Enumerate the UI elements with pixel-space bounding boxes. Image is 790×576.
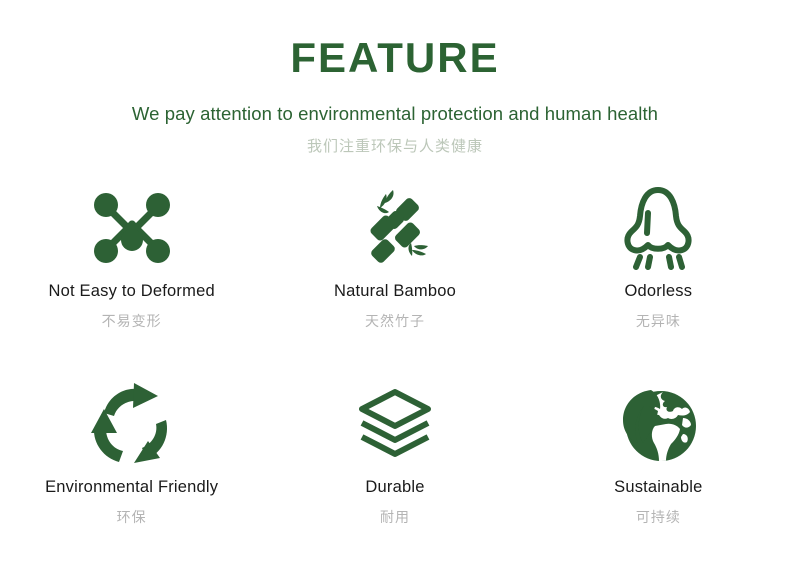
nose-icon [622,178,694,278]
feature-item-not-easy-to-deformed: Not Easy to Deformed 不易变形 [0,178,263,374]
feature-label-chinese: 天然竹子 [365,311,425,331]
subtitle-chinese: 我们注重环保与人类健康 [0,135,790,156]
layers-stack-icon [356,374,434,474]
feature-item-environmental-friendly: Environmental Friendly 环保 [0,374,263,570]
feature-item-odorless: Odorless 无异味 [527,178,790,374]
feature-label-chinese: 耐用 [380,507,410,527]
feature-label-chinese: 环保 [117,507,147,527]
subtitle-english: We pay attention to environmental protec… [0,103,790,125]
molecule-nodes-icon [90,178,174,278]
feature-label-english: Durable [365,478,424,497]
feature-grid: Not Easy to Deformed 不易变形 [0,178,790,570]
recycle-icon [90,374,174,474]
feature-label-english: Not Easy to Deformed [49,282,215,301]
feature-label-english: Odorless [625,282,693,301]
bamboo-icon [355,178,435,278]
feature-item-sustainable: Sustainable 可持续 [527,374,790,570]
feature-label-chinese: 无异味 [636,311,681,331]
feature-section: FEATURE We pay attention to environmenta… [0,0,790,576]
globe-leaf-icon [617,374,699,474]
feature-item-natural-bamboo: Natural Bamboo 天然竹子 [263,178,526,374]
feature-label-english: Sustainable [614,478,702,497]
page-title: FEATURE [0,36,790,80]
feature-item-durable: Durable 耐用 [263,374,526,570]
section-header: FEATURE We pay attention to environmenta… [0,0,790,156]
feature-label-chinese: 可持续 [636,507,681,527]
feature-label-english: Environmental Friendly [45,478,218,497]
feature-label-english: Natural Bamboo [334,282,456,301]
feature-label-chinese: 不易变形 [102,311,162,331]
